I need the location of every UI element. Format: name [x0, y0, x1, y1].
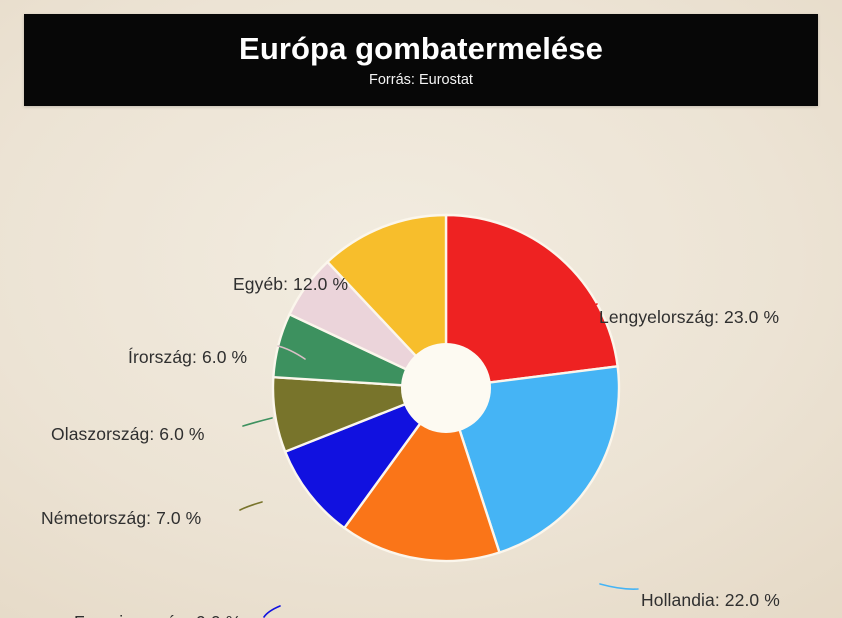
slice-label: Lengyelország: 23.0 %: [599, 309, 779, 327]
slice-label: Olaszország: 6.0 %: [51, 426, 205, 444]
chart-source-subtitle: Forrás: Eurostat: [369, 72, 473, 88]
slice-label: Egyéb: 12.0 %: [233, 276, 348, 294]
slice-label: Írország: 6.0 %: [128, 349, 247, 367]
title-banner: Európa gombatermelése Forrás: Eurostat: [24, 14, 818, 106]
donut-hole: [401, 343, 491, 433]
label-leader-line: [240, 502, 262, 510]
donut-chart-svg: [0, 106, 842, 618]
donut-chart: Lengyelország: 23.0 %Hollandia: 22.0 %Sp…: [0, 106, 842, 618]
slice-label: Németország: 7.0 %: [41, 510, 201, 528]
slice-label: Franciaország: 9.0 %: [74, 614, 241, 618]
page-title: Európa gombatermelése: [239, 32, 603, 66]
label-leader-line: [243, 418, 272, 426]
label-leader-line: [264, 606, 280, 617]
chart-page: Európa gombatermelése Forrás: Eurostat L…: [0, 0, 842, 618]
slice-label: Hollandia: 22.0 %: [641, 592, 780, 610]
label-leader-line: [600, 584, 638, 589]
